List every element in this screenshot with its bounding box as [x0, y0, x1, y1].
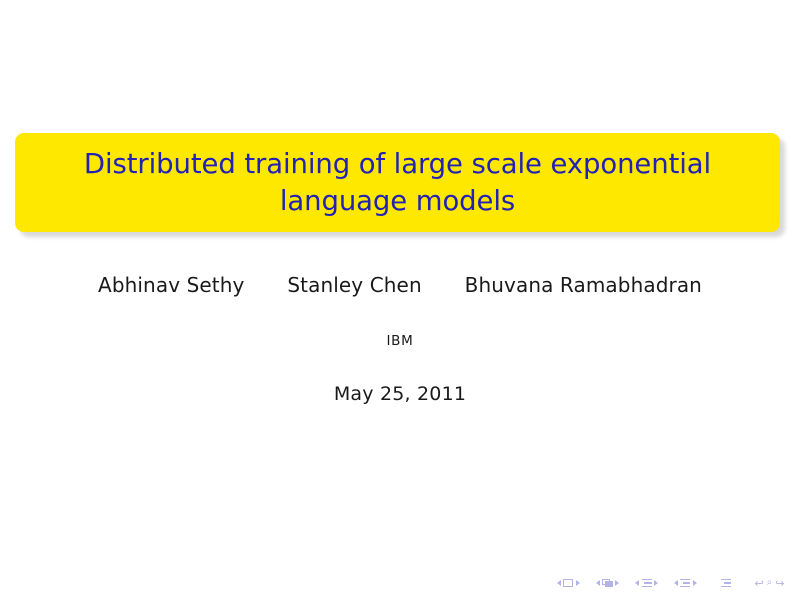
previous-subsection-icon[interactable]	[635, 580, 639, 586]
date-line: May 25, 2011	[0, 383, 800, 405]
author-name: Bhuvana Ramabhadran	[465, 273, 702, 297]
next-slide-icon[interactable]	[576, 580, 580, 586]
next-subsection-icon[interactable]	[654, 580, 658, 586]
search-icon[interactable]: ⌕	[767, 578, 773, 588]
section-icon[interactable]	[680, 579, 690, 588]
next-frame-icon[interactable]	[615, 580, 619, 586]
previous-section-icon[interactable]	[674, 580, 678, 586]
author-name: Stanley Chen	[287, 273, 421, 297]
authors-line: Abhinav Sethy Stanley Chen Bhuvana Ramab…	[0, 273, 800, 297]
nav-group-utility[interactable]: ↩ ⌕ ↪	[753, 578, 786, 589]
nav-group-presentation[interactable]	[721, 579, 731, 588]
presentation-slide: Distributed training of large scale expo…	[0, 0, 800, 600]
back-icon[interactable]: ↩	[754, 578, 763, 589]
nav-group-slide[interactable]	[555, 579, 583, 587]
frame-icon[interactable]	[602, 579, 613, 588]
previous-frame-icon[interactable]	[596, 580, 600, 586]
subsection-icon[interactable]	[642, 579, 652, 588]
nav-group-frame[interactable]	[593, 579, 622, 588]
author-name: Abhinav Sethy	[98, 273, 244, 297]
previous-slide-icon[interactable]	[557, 580, 561, 586]
slide-title: Distributed training of large scale expo…	[37, 146, 758, 219]
beamer-navigation-bar[interactable]: ↩ ⌕ ↪	[555, 575, 786, 591]
slide-icon[interactable]	[563, 579, 573, 587]
nav-group-section[interactable]	[671, 579, 699, 588]
document-icon[interactable]	[721, 579, 731, 588]
next-section-icon[interactable]	[693, 580, 697, 586]
nav-group-subsection[interactable]	[633, 579, 661, 588]
title-block: Distributed training of large scale expo…	[15, 133, 780, 232]
institute-line: IBM	[0, 333, 800, 349]
forward-icon[interactable]: ↪	[775, 578, 784, 589]
